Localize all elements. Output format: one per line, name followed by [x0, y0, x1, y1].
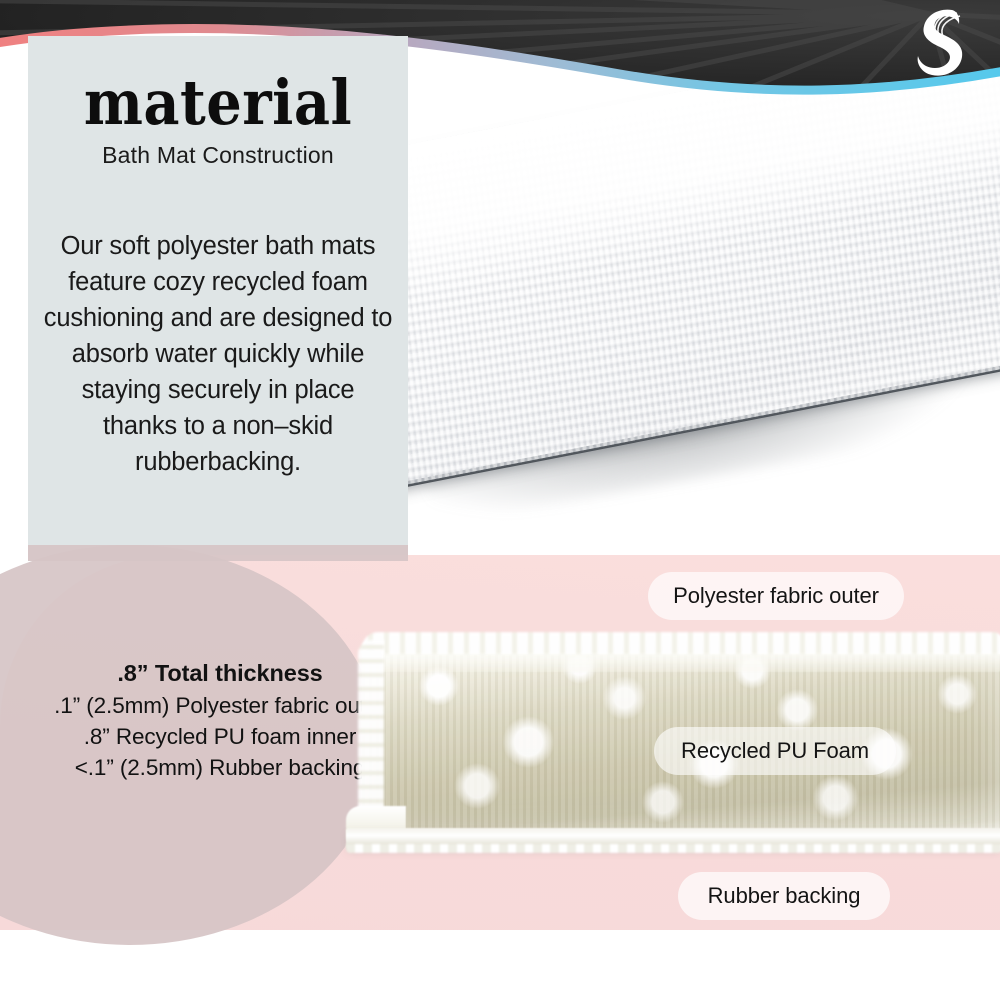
fabric-pile-texture: [362, 632, 1000, 654]
s-swoosh-logo-icon: [896, 4, 972, 78]
label-rubber-backing: Rubber backing: [678, 872, 890, 920]
rubber-backing-edge: [346, 844, 1000, 853]
label-polyester-fabric-outer: Polyester fabric outer: [648, 572, 904, 620]
page-title: material: [28, 72, 408, 134]
body-paragraph: Our soft polyester bath mats feature coz…: [42, 228, 394, 480]
infographic-page: material Bath Mat Construction Our soft …: [0, 0, 1000, 1000]
label-recycled-pu-foam: Recycled PU Foam: [654, 727, 896, 775]
page-subtitle: Bath Mat Construction: [28, 142, 408, 169]
bath-mat-corner-photo: [405, 58, 1000, 558]
